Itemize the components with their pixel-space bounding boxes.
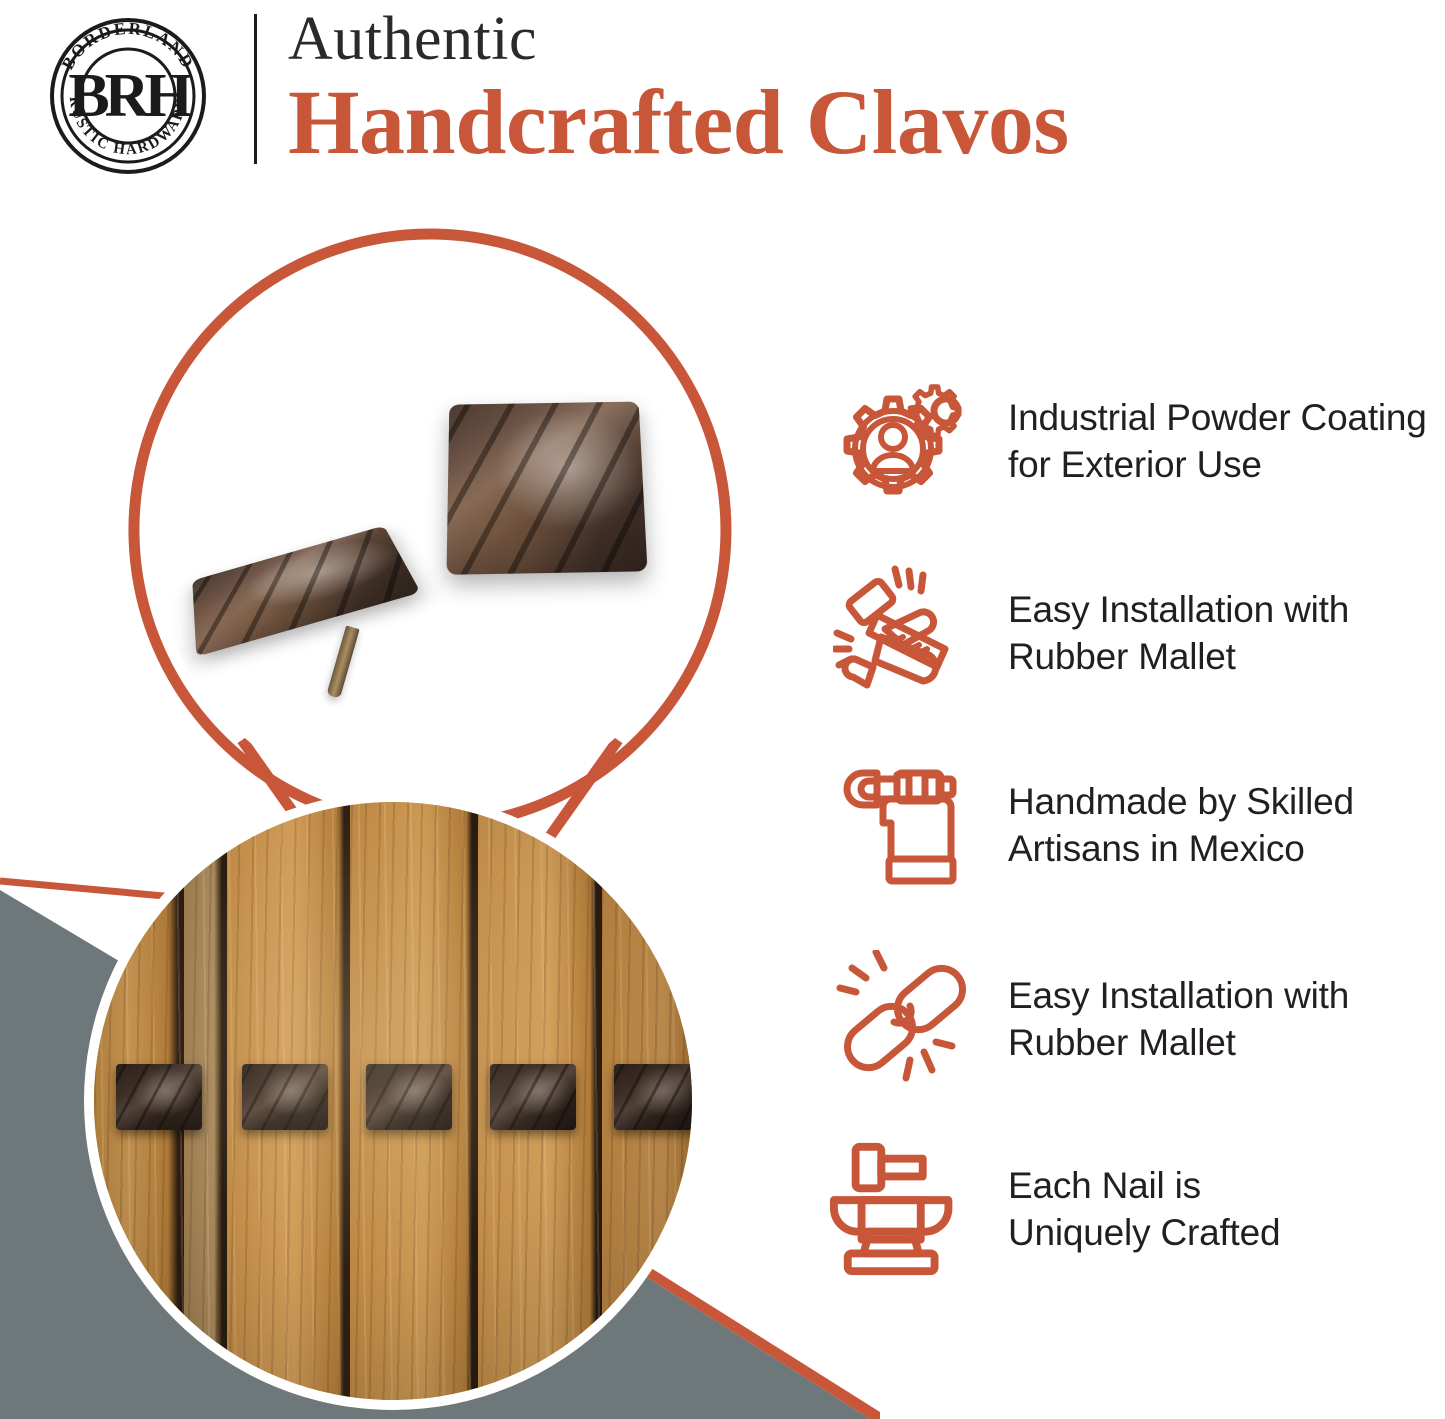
feature-line-2: Uniquely Crafted [1008,1209,1280,1256]
fist-wrench-icon [828,755,978,895]
feature-line-1: Handmade by Skilled [1008,778,1354,825]
feature-line-2: for Exterior Use [1008,441,1427,488]
svg-text:BRH: BRH [68,62,192,130]
installed-door-photo [94,802,692,1400]
title-block: Authentic Handcrafted Clavos [288,6,1418,170]
anvil-hammer-icon [828,1139,978,1279]
feature-item: Each Nail is Uniquely Crafted [828,1134,1445,1284]
feature-line-1: Easy Installation with [1008,586,1349,633]
feature-label: Industrial Powder Coating for Exterior U… [978,394,1427,488]
header: BORDERLAND RUSTIC HARDWARE BRH Authentic… [0,0,1445,190]
chain-links-icon [828,949,978,1089]
product-closeup-photo [150,248,710,808]
clavo-face-view [446,402,647,575]
clavo-nail-shaft [326,625,359,698]
visual-column [0,190,820,1419]
title-eyebrow: Authentic [288,6,1418,72]
brand-logo: BORDERLAND RUSTIC HARDWARE BRH [44,12,212,180]
feature-item: Easy Installation with Rubber Mallet [828,558,1445,708]
infographic-page: BORDERLAND RUSTIC HARDWARE BRH Authentic… [0,0,1445,1419]
feature-item: Industrial Powder Coating for Exterior U… [828,366,1445,516]
feature-line-2: Rubber Mallet [1008,1019,1349,1066]
feature-line-1: Easy Installation with [1008,972,1349,1019]
clavo-angled-view [192,526,420,657]
feature-line-1: Each Nail is [1008,1162,1280,1209]
feature-label: Easy Installation with Rubber Mallet [978,972,1349,1066]
door-photo-vignette [94,802,692,1400]
header-divider [254,14,257,164]
feature-item: Handmade by Skilled Artisans in Mexico [828,750,1445,900]
page-title: Handcrafted Clavos [288,74,1418,170]
feature-item: Easy Installation with Rubber Mallet [828,944,1445,1094]
feature-label: Easy Installation with Rubber Mallet [978,586,1349,680]
gear-person-icon [828,371,978,511]
feature-label: Each Nail is Uniquely Crafted [978,1162,1280,1256]
feature-label: Handmade by Skilled Artisans in Mexico [978,778,1354,872]
hand-mallet-icon [828,563,978,703]
feature-line-2: Rubber Mallet [1008,633,1349,680]
feature-line-1: Industrial Powder Coating [1008,394,1427,441]
feature-line-2: Artisans in Mexico [1008,825,1354,872]
